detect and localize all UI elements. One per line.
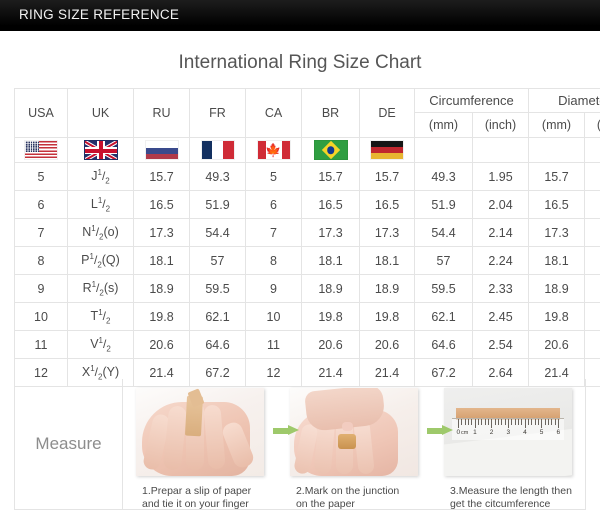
cell-circumference-inch: 2.54 <box>473 331 529 359</box>
measure-label-cell: Measure <box>15 379 123 509</box>
usa-flag-icon <box>24 140 58 160</box>
ruler-tick-label: 2 <box>490 429 494 437</box>
cell-ca: 8 <box>246 247 302 275</box>
cell-ru: 16.5 <box>134 191 190 219</box>
cell-fr: 57 <box>190 247 246 275</box>
header-de: DE <box>360 89 415 138</box>
cell-diameter-mm: 20.6 <box>529 331 585 359</box>
flag-cell-de <box>360 138 415 163</box>
cell-br: 17.3 <box>302 219 360 247</box>
flag-cell-ca: 🍁 <box>246 138 302 163</box>
cell-diameter-mm: 19.8 <box>529 303 585 331</box>
ruler-tick-label: 4 <box>523 429 527 437</box>
step-1-caption-line2: and tie it on your finger <box>142 498 249 510</box>
flag-cell-empty-2 <box>473 138 529 163</box>
cell-circumference-mm: 57 <box>415 247 473 275</box>
ruler-numbers: 0123456 <box>452 429 564 439</box>
cell-uk: L1/2 <box>68 191 134 219</box>
cell-br: 15.7 <box>302 163 360 191</box>
ruler-tick-label: 3 <box>506 429 510 437</box>
table-row: 5J1/215.749.3515.715.749.31.9515.70.62 <box>15 163 600 191</box>
table-body: 5J1/215.749.3515.715.749.31.9515.70.626L… <box>15 163 600 387</box>
cell-de: 18.1 <box>360 247 415 275</box>
step-2-caption: 2.Mark on the junction on the paper <box>290 485 418 510</box>
step-1-caption-line1: 1.Prepar a slip of paper <box>142 485 251 497</box>
cell-ca: 11 <box>246 331 302 359</box>
cell-usa: 8 <box>15 247 68 275</box>
cell-fr: 59.5 <box>190 275 246 303</box>
cell-circumference-mm: 59.5 <box>415 275 473 303</box>
step-2-photo <box>290 388 418 476</box>
cell-ca: 6 <box>246 191 302 219</box>
cell-fr: 51.9 <box>190 191 246 219</box>
header-fr: FR <box>190 89 246 138</box>
cell-diameter-mm: 15.7 <box>529 163 585 191</box>
cell-circumference-mm: 51.9 <box>415 191 473 219</box>
ring-size-reference-page: RING SIZE REFERENCE International Ring S… <box>0 0 600 524</box>
cell-usa: 9 <box>15 275 68 303</box>
cell-diameter-mm: 18.1 <box>529 247 585 275</box>
cell-ru: 15.7 <box>134 163 190 191</box>
france-flag-icon <box>201 140 235 160</box>
cell-fr: 49.3 <box>190 163 246 191</box>
canada-flag-icon: 🍁 <box>257 140 291 160</box>
cell-de: 19.8 <box>360 303 415 331</box>
cell-circumference-mm: 49.3 <box>415 163 473 191</box>
cell-ru: 18.1 <box>134 247 190 275</box>
cell-uk: P1/2(Q) <box>68 247 134 275</box>
cell-circumference-inch: 2.45 <box>473 303 529 331</box>
cell-ru: 20.6 <box>134 331 190 359</box>
ruler-graphic: 0123456 cm <box>452 418 564 440</box>
cell-usa: 6 <box>15 191 68 219</box>
step-2-caption-line1: 2.Mark on the junction <box>296 485 399 497</box>
ruler-unit-label: cm <box>461 430 468 436</box>
cell-de: 15.7 <box>360 163 415 191</box>
brazil-flag-icon <box>314 140 348 160</box>
ring-size-table-wrap: USA UK RU FR CA BR DE Circumference Diam… <box>14 88 586 387</box>
cell-ru: 17.3 <box>134 219 190 247</box>
cell-fr: 62.1 <box>190 303 246 331</box>
uk-flag-icon <box>84 140 118 160</box>
cell-uk: R1/2(s) <box>68 275 134 303</box>
cell-diameter-inch: 0.84 <box>585 359 600 387</box>
table-row: 8P1/2(Q)18.157818.118.1572.2418.10.71 <box>15 247 600 275</box>
table-row: 6L1/216.551.9616.516.551.92.0416.50.65 <box>15 191 600 219</box>
cell-br: 20.6 <box>302 331 360 359</box>
chart-title: International Ring Size Chart <box>0 52 600 74</box>
cell-circumference-inch: 2.04 <box>473 191 529 219</box>
cell-uk: V1/2 <box>68 331 134 359</box>
cell-circumference-inch: 2.24 <box>473 247 529 275</box>
cell-diameter-mm: 17.3 <box>529 219 585 247</box>
ruler-tick-label: 1 <box>473 429 477 437</box>
page-banner: RING SIZE REFERENCE <box>0 0 600 31</box>
header-uk: UK <box>68 89 134 138</box>
cell-de: 16.5 <box>360 191 415 219</box>
step-arrow-2-icon <box>427 425 453 436</box>
cell-uk: J1/2 <box>68 163 134 191</box>
cell-br: 19.8 <box>302 303 360 331</box>
cell-de: 17.3 <box>360 219 415 247</box>
header-ca: CA <box>246 89 302 138</box>
subheader-dia-mm: (mm) <box>529 113 585 138</box>
cell-diameter-inch: 0.74 <box>585 275 600 303</box>
flag-cell-empty-4 <box>585 138 600 163</box>
cell-ca: 10 <box>246 303 302 331</box>
cell-fr: 64.6 <box>190 331 246 359</box>
measure-step-1: 1.Prepar a slip of paper and tie it on y… <box>123 388 277 510</box>
flag-cell-fr <box>190 138 246 163</box>
step-3-caption: 3.Measure the length then get the citcum… <box>444 485 572 510</box>
cell-diameter-inch: 0.71 <box>585 247 600 275</box>
measure-steps: 1.Prepar a slip of paper and tie it on y… <box>123 379 585 509</box>
step-3-caption-line2: get the citcumference <box>450 498 550 510</box>
flag-cell-uk <box>68 138 134 163</box>
cell-br: 18.1 <box>302 247 360 275</box>
cell-usa: 7 <box>15 219 68 247</box>
table-row: 10T1/219.862.11019.819.862.12.4519.80.78 <box>15 303 600 331</box>
ruler-tick-label: 0 <box>456 429 460 437</box>
cell-ca: 5 <box>246 163 302 191</box>
cell-usa: 10 <box>15 303 68 331</box>
header-diameter: Diameter <box>529 89 600 113</box>
table-flag-row: 🍁 <box>15 138 600 163</box>
header-circumference: Circumference <box>415 89 529 113</box>
step-3-photo: 0123456 cm <box>444 388 572 476</box>
cell-fr: 54.4 <box>190 219 246 247</box>
step-1-caption: 1.Prepar a slip of paper and tie it on y… <box>136 485 264 510</box>
cell-diameter-inch: 0.68 <box>585 219 600 247</box>
header-ru: RU <box>134 89 190 138</box>
cell-circumference-inch: 2.14 <box>473 219 529 247</box>
cell-circumference-inch: 1.95 <box>473 163 529 191</box>
flag-cell-usa <box>15 138 68 163</box>
cell-ca: 7 <box>246 219 302 247</box>
flag-cell-ru <box>134 138 190 163</box>
flag-cell-br <box>302 138 360 163</box>
germany-flag-icon <box>370 140 404 160</box>
table-row: 11V1/220.664.61120.620.664.62.5420.60.81 <box>15 331 600 359</box>
table-row: 9R1/2(s)18.959.5918.918.959.52.3318.90.7… <box>15 275 600 303</box>
cell-diameter-inch: 0.78 <box>585 303 600 331</box>
cell-de: 20.6 <box>360 331 415 359</box>
table-header-row: USA UK RU FR CA BR DE Circumference Diam… <box>15 89 600 113</box>
cell-circumference-inch: 2.33 <box>473 275 529 303</box>
ruler-tick-label: 6 <box>556 429 560 437</box>
cell-diameter-mm: 18.9 <box>529 275 585 303</box>
cell-br: 16.5 <box>302 191 360 219</box>
cell-ru: 19.8 <box>134 303 190 331</box>
cell-circumference-mm: 62.1 <box>415 303 473 331</box>
cell-diameter-inch: 0.65 <box>585 191 600 219</box>
cell-uk: T1/2 <box>68 303 134 331</box>
step-3-caption-line1: 3.Measure the length then <box>450 485 572 497</box>
measure-label: Measure <box>35 434 101 454</box>
flag-cell-empty-3 <box>529 138 585 163</box>
cell-diameter-mm: 16.5 <box>529 191 585 219</box>
header-usa: USA <box>15 89 68 138</box>
table-row: 7N1/2(o)17.354.4717.317.354.42.1417.30.6… <box>15 219 600 247</box>
subheader-circ-mm: (mm) <box>415 113 473 138</box>
measure-section: Measure 1.Prepar a slip of paper and tie… <box>14 379 586 510</box>
cell-ca: 9 <box>246 275 302 303</box>
cell-usa: 11 <box>15 331 68 359</box>
cell-circumference-mm: 64.6 <box>415 331 473 359</box>
cell-diameter-inch: 0.62 <box>585 163 600 191</box>
cell-uk: N1/2(o) <box>68 219 134 247</box>
subheader-dia-inch: (inch) <box>585 113 600 138</box>
flag-cell-empty-1 <box>415 138 473 163</box>
ruler-tick-label: 5 <box>540 429 544 437</box>
header-br: BR <box>302 89 360 138</box>
measure-step-2: 2.Mark on the junction on the paper <box>277 388 431 510</box>
cell-circumference-mm: 54.4 <box>415 219 473 247</box>
step-2-caption-line2: on the paper <box>296 498 355 510</box>
cell-diameter-inch: 0.81 <box>585 331 600 359</box>
ring-size-table: USA UK RU FR CA BR DE Circumference Diam… <box>14 88 600 387</box>
cell-br: 18.9 <box>302 275 360 303</box>
banner-title: RING SIZE REFERENCE <box>19 7 179 22</box>
subheader-circ-inch: (inch) <box>473 113 529 138</box>
step-arrow-1-icon <box>273 425 299 436</box>
russia-flag-icon <box>145 140 179 160</box>
measure-step-3: 0123456 cm 3.Measure the length then get… <box>431 388 585 510</box>
cell-de: 18.9 <box>360 275 415 303</box>
cell-usa: 5 <box>15 163 68 191</box>
cell-ru: 18.9 <box>134 275 190 303</box>
step-1-photo <box>136 388 264 476</box>
